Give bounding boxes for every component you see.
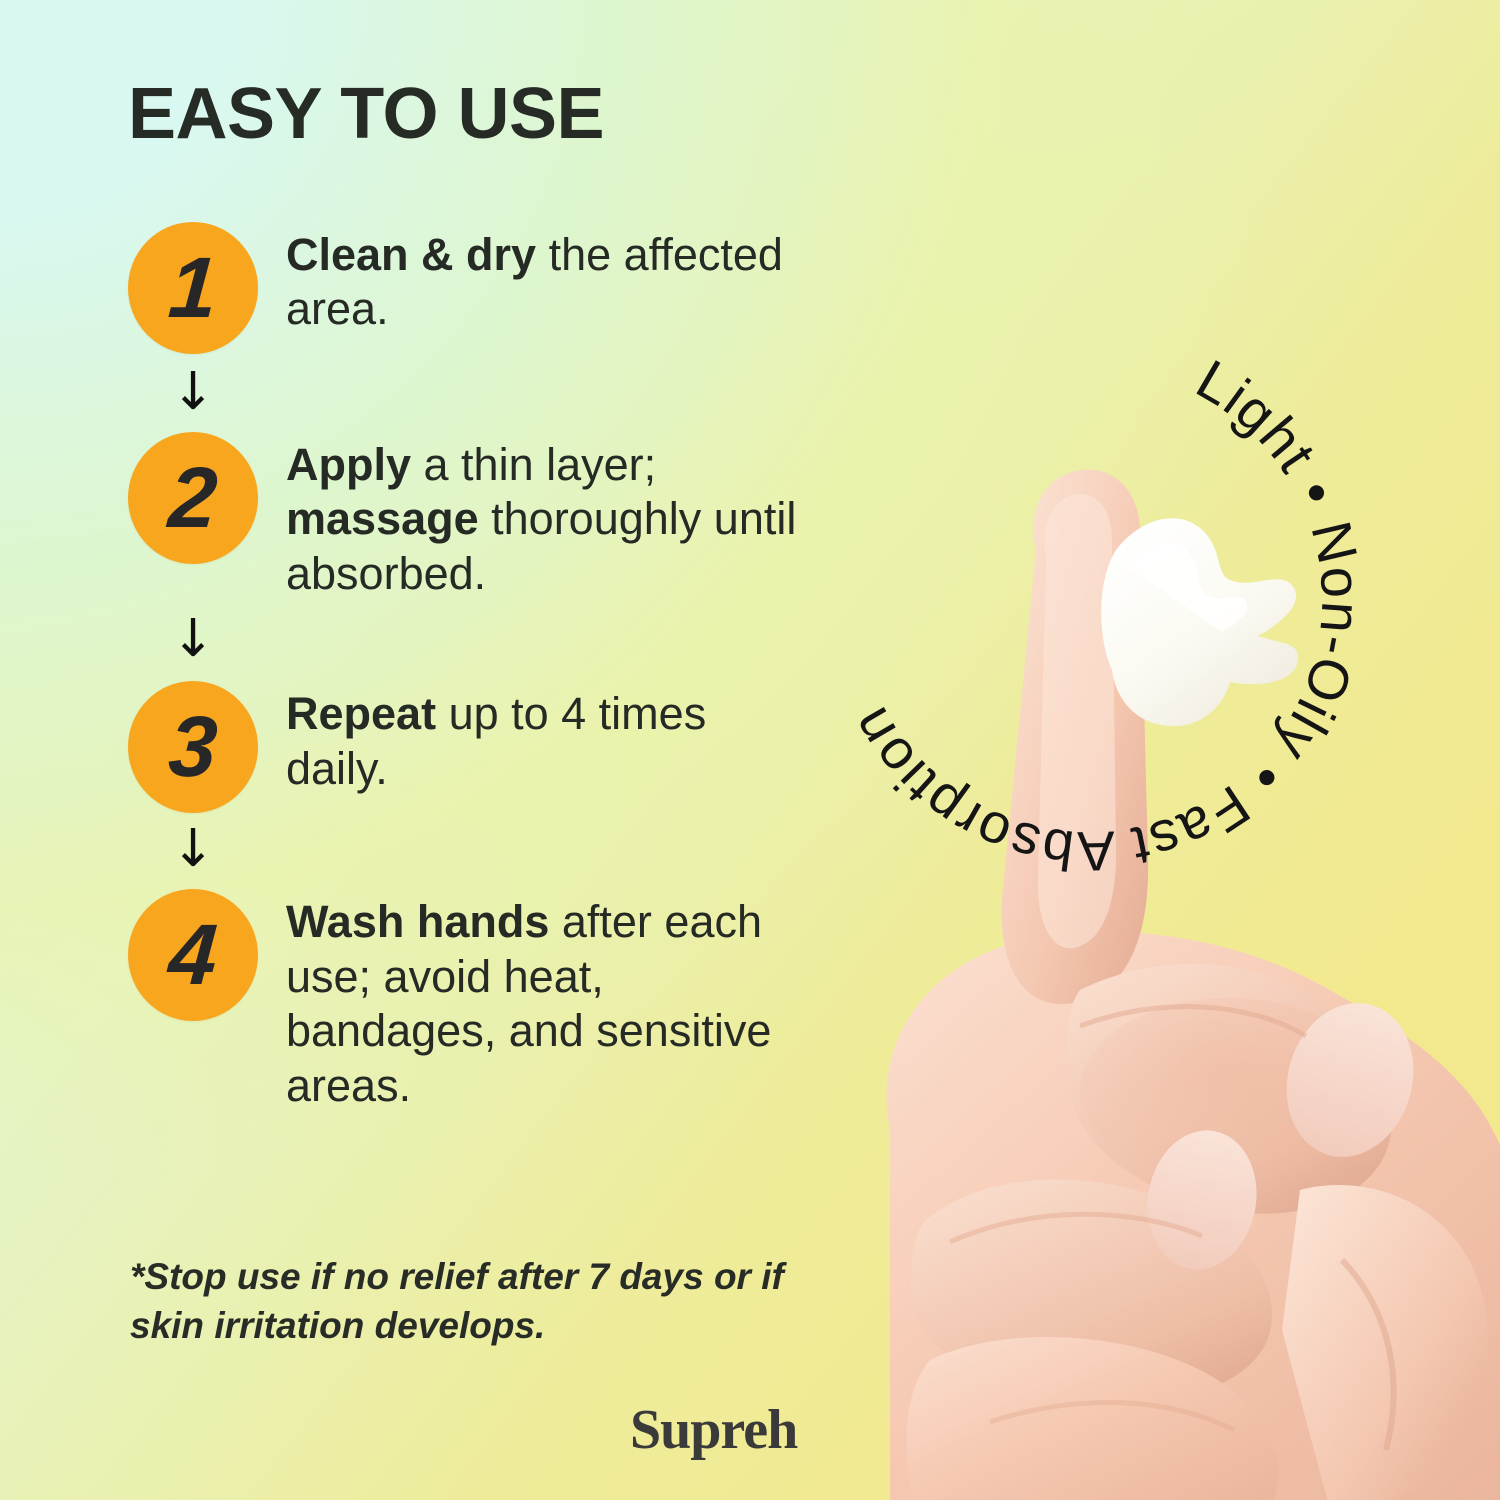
step-rest-2: a thin layer; [411,439,656,490]
step-lead-4: Wash hands [286,896,549,947]
step-number-2: 2 [166,455,220,541]
step-item-1: 1 Clean & dry the affected area. [128,222,808,354]
step-item-4: 4 Wash hands after each use; avoid heat,… [128,889,808,1113]
flow-arrow-icon-1: ↓ [128,360,258,424]
step-badge-1: 1 [128,222,258,354]
step-badge-3: 3 [128,681,258,813]
flow-arrow-icon-2: ↓ [128,607,258,671]
page-title: EASY TO USE [128,78,604,150]
step-lead2-2: massage [286,493,479,544]
step-item-2: 2 Apply a thin layer; massage thoroughly… [128,432,808,601]
rotating-claims-arc: Light • Non-Oily • Fast Absorption [790,300,1390,900]
step-lead-2: Apply [286,439,411,490]
step-number-4: 4 [166,912,220,998]
step-text-4: Wash hands after each use; avoid heat, b… [258,889,808,1113]
brand-logo: Supreh [630,1398,797,1462]
step-badge-4: 4 [128,889,258,1021]
cream-dollop [1101,518,1298,726]
step-lead-1: Clean & dry [286,229,536,280]
infographic-page: Light • Non-Oily • Fast Absorption EASY … [0,0,1500,1500]
claims-text: Light • Non-Oily • Fast Absorption [837,347,1373,883]
step-badge-2: 2 [128,432,258,564]
steps-list: 1 Clean & dry the affected area. ↓ 2 App… [128,208,808,1113]
step-text-3: Repeat up to 4 times daily. [258,681,808,796]
step-item-3: 3 Repeat up to 4 times daily. [128,681,808,813]
claims-textpath: Light • Non-Oily • Fast Absorption [837,347,1373,883]
step-lead-3: Repeat [286,688,436,739]
step-text-1: Clean & dry the affected area. [258,222,808,337]
hand-illustration [830,430,1500,1500]
step-number-3: 3 [166,704,220,790]
disclaimer-text: *Stop use if no relief after 7 days or i… [130,1253,830,1351]
step-number-1: 1 [166,245,220,331]
step-text-2: Apply a thin layer; massage thoroughly u… [258,432,808,601]
flow-arrow-icon-3: ↓ [128,817,258,881]
